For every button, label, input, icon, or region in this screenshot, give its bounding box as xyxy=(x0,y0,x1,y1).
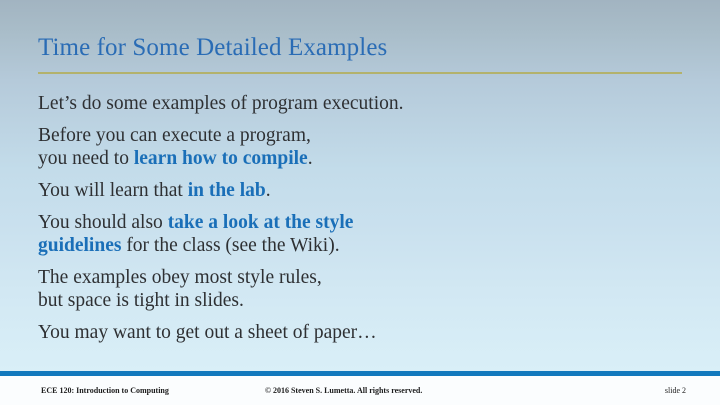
slide-title: Time for Some Detailed Examples xyxy=(38,33,387,63)
body-paragraph: You may want to get out a sheet of paper… xyxy=(38,321,688,344)
body-text: for the class (see the Wiki). xyxy=(121,235,339,256)
body-paragraph: Let’s do some examples of program execut… xyxy=(38,92,688,115)
footer-course-label: ECE 120: Introduction to Computing xyxy=(41,386,169,396)
body-text: . xyxy=(308,148,313,169)
slide: Time for Some Detailed Examples Let’s do… xyxy=(0,0,720,405)
emphasized-text: learn how to compile xyxy=(134,148,308,169)
body-text: . xyxy=(266,180,271,201)
body-text: Let’s do some examples of program execut… xyxy=(38,93,404,114)
footer-copyright-label: © 2016 Steven S. Lumetta. All rights res… xyxy=(265,386,422,396)
body-text: You may want to get out a sheet of paper… xyxy=(38,322,377,343)
body-text: You should also xyxy=(38,212,168,233)
emphasized-text: in the lab xyxy=(188,180,266,201)
body-paragraph: The examples obey most style rules, but … xyxy=(38,266,688,312)
body-paragraph: You should also take a look at the style… xyxy=(38,211,688,257)
footer-slide-number: slide 2 xyxy=(665,386,686,396)
body-text: The examples obey most style rules, but … xyxy=(38,267,322,311)
body-paragraph: Before you can execute a program, you ne… xyxy=(38,124,688,170)
body-text: You will learn that xyxy=(38,180,188,201)
title-divider-rule xyxy=(38,72,682,74)
body-paragraph: You will learn that in the lab. xyxy=(38,179,688,202)
slide-body: Let’s do some examples of program execut… xyxy=(38,92,688,344)
